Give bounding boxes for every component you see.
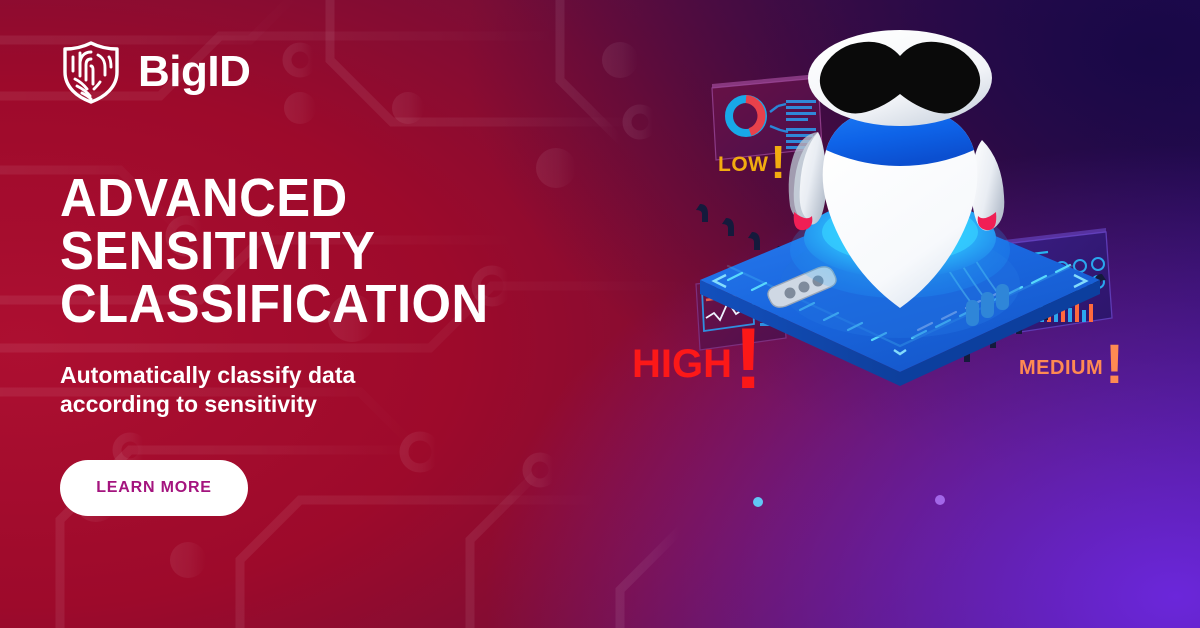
badge-high-label: HIGH — [632, 344, 732, 384]
page-title: ADVANCED SENSITIVITY CLASSIFICATION — [60, 172, 586, 331]
subheadline-line-2: according to sensitivity — [60, 390, 620, 419]
badge-low-exclamation: ! — [770, 139, 785, 185]
fingerprint-shield-icon — [60, 39, 122, 105]
badge-medium-label: MEDIUM — [1019, 358, 1103, 378]
badge-low-label: LOW — [718, 154, 768, 175]
status-badge-high: HIGH ! — [632, 326, 763, 402]
headline-line-3: CLASSIFICATION — [60, 278, 586, 331]
headline-line-1: ADVANCED — [60, 172, 586, 225]
banner-content: BigID ADVANCED SENSITIVITY CLASSIFICATIO… — [60, 38, 620, 516]
badge-medium-exclamation: ! — [1105, 336, 1124, 392]
subheadline: Automatically classify data according to… — [60, 361, 620, 420]
brand-wordmark: BigID — [138, 50, 250, 94]
subheadline-line-1: Automatically classify data — [60, 361, 620, 390]
headline-line-2: SENSITIVITY — [60, 225, 586, 278]
status-badge-low: LOW ! — [718, 143, 786, 185]
hero-illustration — [600, 0, 1200, 628]
learn-more-button[interactable]: LEARN MORE — [60, 460, 248, 516]
badge-high-exclamation: ! — [734, 316, 763, 402]
brand-logo[interactable]: BigID — [60, 38, 620, 106]
marketing-banner: BigID ADVANCED SENSITIVITY CLASSIFICATIO… — [0, 0, 1200, 628]
status-badge-medium: MEDIUM ! — [1019, 344, 1124, 392]
